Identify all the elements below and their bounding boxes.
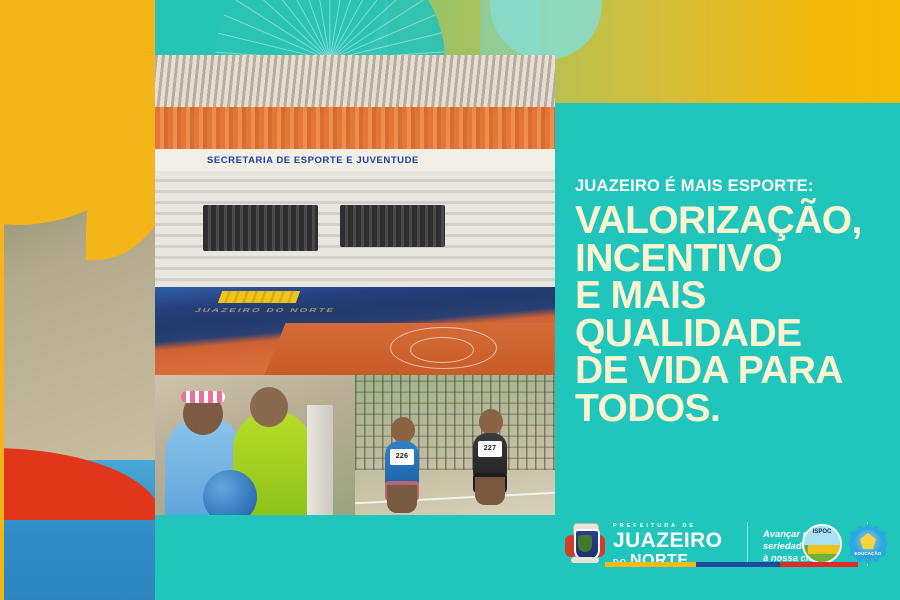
- runner-black-head: [479, 409, 503, 435]
- gym-banner-text: SECRETARIA DE ESPORTE E JUVENTUDE: [207, 151, 457, 169]
- left-photo-column: [0, 0, 155, 600]
- badge-ispoc-circle: ISPOC: [802, 524, 842, 564]
- poster-root: SECRETARIA DE ESPORTE E JUVENTUDE JUAZEI…: [0, 0, 900, 600]
- runner-blue: 226: [379, 415, 425, 511]
- prefeitura-city: JUAZEIRO: [613, 531, 743, 551]
- footer-divider-1: [747, 522, 748, 566]
- badge-ispoc: ISPOC: [802, 524, 842, 564]
- photo-gymnasium: SECRETARIA DE ESPORTE E JUVENTUDE JUAZEI…: [155, 55, 555, 375]
- badge-educacao-label: EDUCAÇÃO: [848, 551, 888, 556]
- color-bar-red: [780, 562, 858, 567]
- left-accent-edge: [0, 0, 4, 600]
- photo-goalball: [155, 375, 355, 515]
- gym-upper-seats: [155, 107, 555, 149]
- badge-ispoc-label: ISPOC: [804, 529, 840, 535]
- city-crest-icon: [565, 523, 605, 565]
- runner-blue-bib: 226: [390, 449, 414, 465]
- color-bar-blue: [696, 562, 779, 567]
- gym-yellow-seats: [218, 291, 300, 303]
- badge-ispoc-banner: [808, 545, 840, 554]
- runner-blue-head: [391, 417, 415, 443]
- page-title: VALORIZAÇÃO, INCENTIVO E MAIS QUALIDADE …: [575, 202, 887, 427]
- crest-base-ribbon: [571, 557, 599, 563]
- gym-bleacher-right: [340, 205, 445, 247]
- runner-black-legs: [475, 477, 505, 505]
- badge-educacao: EDUCAÇÃO: [848, 524, 888, 564]
- crest-shield-inner: [578, 535, 592, 552]
- goalball-goal-post: [307, 405, 333, 515]
- gym-court-circle-inner: [410, 337, 474, 363]
- goalball-ball: [203, 470, 257, 515]
- headline-block: JUAZEIRO É MAIS ESPORTE: VALORIZAÇÃO, IN…: [575, 178, 887, 427]
- center-photo-mosaic: SECRETARIA DE ESPORTE E JUVENTUDE JUAZEI…: [155, 55, 555, 515]
- runner-blue-legs: [387, 485, 417, 513]
- gym-bleacher-left: [203, 205, 318, 251]
- runner-black-bib: 227: [478, 441, 502, 457]
- photo-running: 226 227: [355, 375, 555, 515]
- gym-court-floor-text: JUAZEIRO DO NORTE: [194, 307, 427, 313]
- gym-roof: [155, 55, 555, 113]
- footer: PREFEITURA DE JUAZEIRO DO NORTE Avançar …: [555, 510, 900, 600]
- runner-black: 227: [467, 407, 515, 511]
- eyebrow-text: JUAZEIRO É MAIS ESPORTE:: [575, 178, 887, 195]
- footer-color-bar: [605, 562, 858, 567]
- color-bar-yellow: [605, 562, 696, 567]
- goalball-athlete-green-head: [250, 387, 288, 427]
- goalball-headband: [181, 391, 225, 403]
